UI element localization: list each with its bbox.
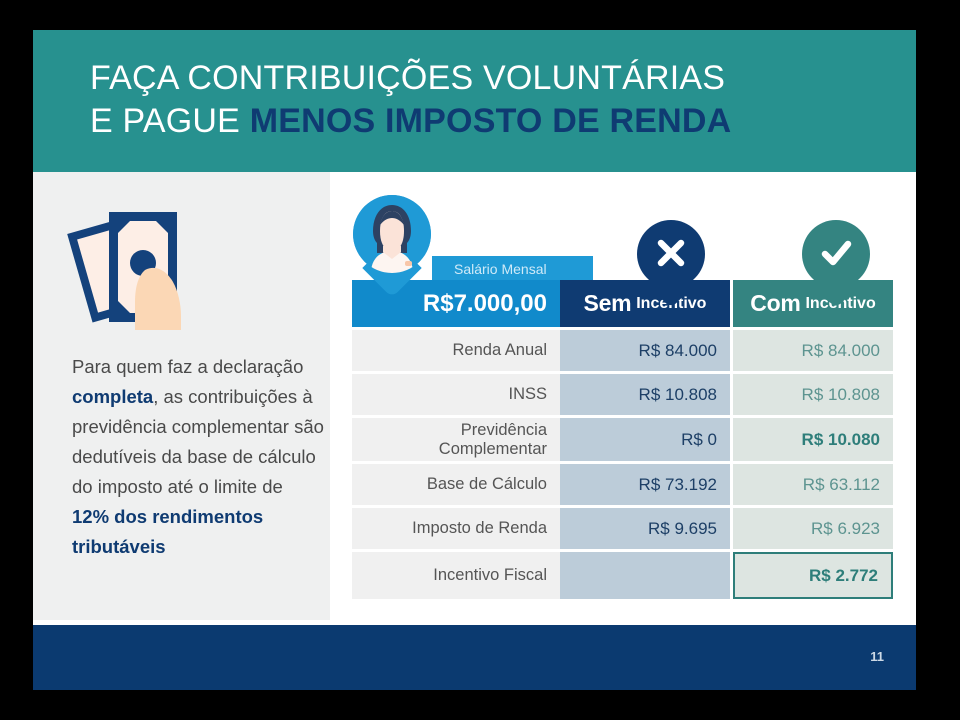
cell-com-incentivo: R$ 10.808 [733, 374, 893, 415]
cell-com-incentivo: R$ 84.000 [733, 330, 893, 371]
cell-com-incentivo: R$ 10.080 [733, 418, 893, 461]
row-label: Incentivo Fiscal [352, 552, 560, 599]
cell-sem-incentivo [560, 552, 730, 599]
paragraph-bold-limite: 12% dos rendimentos tributáveis [72, 506, 263, 557]
left-panel-paragraph: Para quem faz a declaração completa, as … [72, 352, 324, 562]
row-label: Imposto de Renda [352, 508, 560, 549]
table-row: Renda AnualR$ 84.000R$ 84.000 [352, 330, 893, 371]
page-title: FAÇA CONTRIBUIÇÕES VOLUNTÁRIAS E PAGUE M… [90, 57, 890, 143]
cell-sem-incentivo: R$ 84.000 [560, 330, 730, 371]
table-row: Imposto de RendaR$ 9.695R$ 6.923 [352, 508, 893, 549]
com-big-label: Com [750, 290, 800, 317]
page-number: 11 [870, 649, 884, 664]
title-line-2-plain: E PAGUE [90, 102, 250, 140]
hand-holding-money-icon [61, 200, 201, 330]
cell-sem-incentivo: R$ 0 [560, 418, 730, 461]
cell-com-incentivo: R$ 6.923 [733, 508, 893, 549]
paragraph-part-1: Para quem faz a declaração [72, 356, 303, 377]
cell-com-incentivo: R$ 63.112 [733, 464, 893, 505]
title-line-2: E PAGUE MENOS IMPOSTO DE RENDA [90, 100, 890, 143]
table-row: INSSR$ 10.808R$ 10.808 [352, 374, 893, 415]
table-row: Base de CálculoR$ 73.192R$ 63.112 [352, 464, 893, 505]
x-glyph [654, 236, 688, 270]
title-line-1: FAÇA CONTRIBUIÇÕES VOLUNTÁRIAS [90, 57, 890, 100]
cell-sem-incentivo: R$ 73.192 [560, 464, 730, 505]
row-label: Previdência Complementar [352, 418, 560, 461]
title-line-2-highlight: MENOS IMPOSTO DE RENDA [250, 102, 732, 140]
row-label: INSS [352, 374, 560, 415]
comparison-table: R$7.000,00 SemIncentivo ComIncentivo Ren… [352, 280, 893, 602]
sem-big-label: Sem [584, 290, 632, 317]
table-row: Previdência ComplementarR$ 0R$ 10.080 [352, 418, 893, 461]
row-label: Base de Cálculo [352, 464, 560, 505]
salary-tag-band: Salário Mensal [432, 256, 593, 281]
table-header-row: R$7.000,00 SemIncentivo ComIncentivo [352, 280, 893, 327]
cell-sem-incentivo: R$ 10.808 [560, 374, 730, 415]
person-avatar-pin-icon [353, 195, 431, 291]
column-header-sem-incentivo: SemIncentivo [560, 280, 730, 327]
paragraph-bold-completa: completa [72, 386, 153, 407]
cell-com-incentivo-highlighted: R$ 2.772 [733, 552, 893, 599]
slide-footer: 11 [33, 625, 916, 690]
cell-sem-incentivo: R$ 9.695 [560, 508, 730, 549]
column-header-com-incentivo: ComIncentivo [733, 280, 893, 327]
avatar [353, 195, 431, 273]
check-glyph [819, 236, 853, 270]
table-body: Renda AnualR$ 84.000R$ 84.000INSSR$ 10.8… [352, 330, 893, 599]
table-row: Incentivo FiscalR$ 2.772 [352, 552, 893, 599]
slide: FAÇA CONTRIBUIÇÕES VOLUNTÁRIAS E PAGUE M… [33, 30, 916, 690]
row-label: Renda Anual [352, 330, 560, 371]
slide-header-banner: FAÇA CONTRIBUIÇÕES VOLUNTÁRIAS E PAGUE M… [33, 30, 916, 172]
left-info-panel: Para quem faz a declaração completa, as … [33, 172, 330, 620]
